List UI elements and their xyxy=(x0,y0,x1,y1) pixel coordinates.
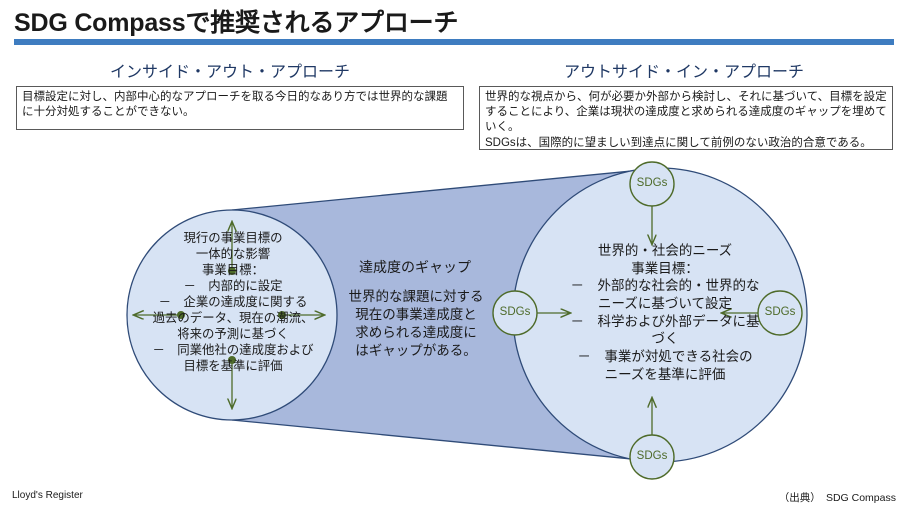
description-box-inside-out: 目標設定に対し、内部中心的なアプローチを取る今日的なあり方では世界的な課題に十分… xyxy=(16,86,464,130)
right-circle-text: 世界的・社会的ニーズ 事業目標： － 外部的な社会的・世界的な ニーズに基づいて… xyxy=(545,242,785,383)
heading-outside-in: アウトサイド・イン・アプローチ xyxy=(460,58,908,82)
heading-inside-out: インサイド・アウト・アプローチ xyxy=(0,58,460,82)
sdgs-label-top: SDGs xyxy=(625,177,679,189)
sdgs-label-right: SDGs xyxy=(753,306,807,318)
sdgs-label-bottom: SDGs xyxy=(625,450,679,462)
gap-body-text: 世界的な課題に対する 現在の事業達成度と 求められる達成度に はギャップがある。 xyxy=(328,288,504,360)
funnel-diagram: 現行の事業目標の 一体的な影響 事業目標： － 内部的に設定 － 企業の達成度に… xyxy=(0,140,908,490)
footer-brand: Lloyd's Register xyxy=(12,490,83,501)
footer-source: （出典） SDG Compass xyxy=(779,490,896,505)
title-underline-rule xyxy=(14,39,894,45)
page-title: SDG Compassで推奨されるアプローチ xyxy=(14,3,458,39)
description-text-inside-out: 目標設定に対し、内部中心的なアプローチを取る今日的なあり方では世界的な課題に十分… xyxy=(22,90,458,120)
sdgs-label-left: SDGs xyxy=(488,306,542,318)
left-circle-text: 現行の事業目標の 一体的な影響 事業目標： － 内部的に設定 － 企業の達成度に… xyxy=(128,230,338,374)
gap-title: 達成度のギャップ xyxy=(330,258,500,276)
